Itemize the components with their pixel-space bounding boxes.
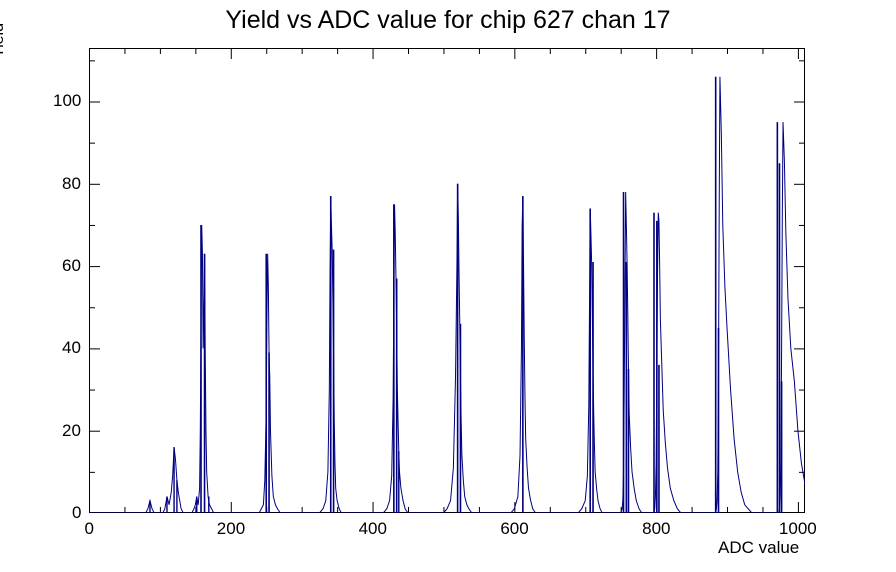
plot-frame-border	[90, 49, 805, 513]
x-tick-label: 400	[359, 519, 387, 539]
x-tick-label: 200	[217, 519, 245, 539]
x-tick-label: 800	[642, 519, 670, 539]
data-series-yield	[89, 77, 805, 513]
y-tick-label: 60	[62, 256, 81, 276]
x-tick-label: 0	[85, 519, 94, 539]
chart-title: Yield vs ADC value for chip 627 chan 17	[0, 6, 896, 35]
y-tick-label: 20	[62, 421, 81, 441]
plot-svg	[89, 48, 805, 513]
y-tick-label: 40	[62, 338, 81, 358]
y-tick-label: 100	[53, 91, 81, 111]
y-tick-label: 0	[72, 503, 81, 523]
x-axis-ticks	[90, 48, 799, 513]
x-axis-title: ADC value	[718, 538, 799, 558]
y-axis-ticks	[89, 61, 805, 473]
x-tick-label: 1000	[779, 519, 817, 539]
plot-area	[89, 48, 805, 513]
y-tick-label: 80	[62, 174, 81, 194]
y-axis-title: Yield	[0, 23, 8, 58]
chart-canvas: Yield vs ADC value for chip 627 chan 17 …	[0, 0, 896, 572]
x-tick-label: 600	[500, 519, 528, 539]
